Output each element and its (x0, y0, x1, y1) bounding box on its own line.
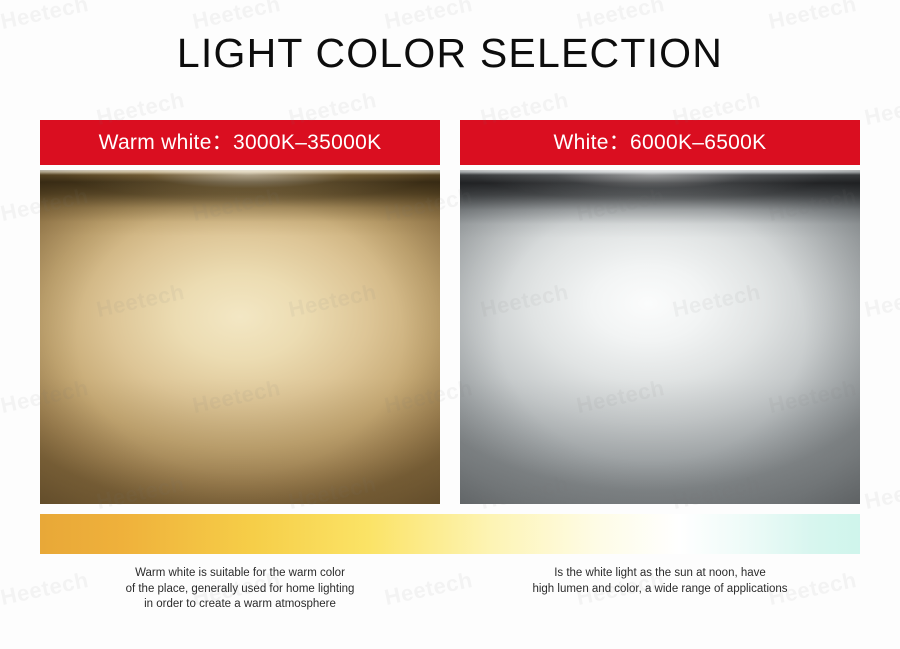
panel-header-warm-white: Warm white：3000K–35000K (40, 120, 440, 165)
caption-warm-line-3: in order to create a warm atmosphere (40, 597, 440, 613)
photo-warm-vignette (40, 170, 440, 504)
watermark-text: Heetech (862, 87, 900, 131)
caption-cool-line-1: Is the white light as the sun at noon, h… (460, 566, 860, 582)
photo-cool-white (460, 170, 860, 504)
panel-warm-white: Warm white：3000K–35000K (40, 120, 440, 504)
caption-cool-white: Is the white light as the sun at noon, h… (460, 566, 860, 597)
watermark-text: Heetech (862, 279, 900, 323)
panel-cool-white: White：6000K–6500K (460, 120, 860, 504)
caption-warm-line-1: Warm white is suitable for the warm colo… (40, 566, 440, 582)
watermark-text: Heetech (862, 471, 900, 515)
page-title: LIGHT COLOR SELECTION (0, 30, 900, 77)
photo-warm-white (40, 170, 440, 504)
light-color-selection-page: LIGHT COLOR SELECTION Warm white：3000K–3… (0, 0, 900, 649)
photo-cool-vignette (460, 170, 860, 504)
color-temperature-gradient-bar (40, 514, 860, 554)
panel-header-cool-white: White：6000K–6500K (460, 120, 860, 165)
caption-warm-white: Warm white is suitable for the warm colo… (40, 566, 440, 613)
caption-cool-line-2: high lumen and color, a wide range of ap… (460, 582, 860, 598)
caption-warm-line-2: of the place, generally used for home li… (40, 582, 440, 598)
